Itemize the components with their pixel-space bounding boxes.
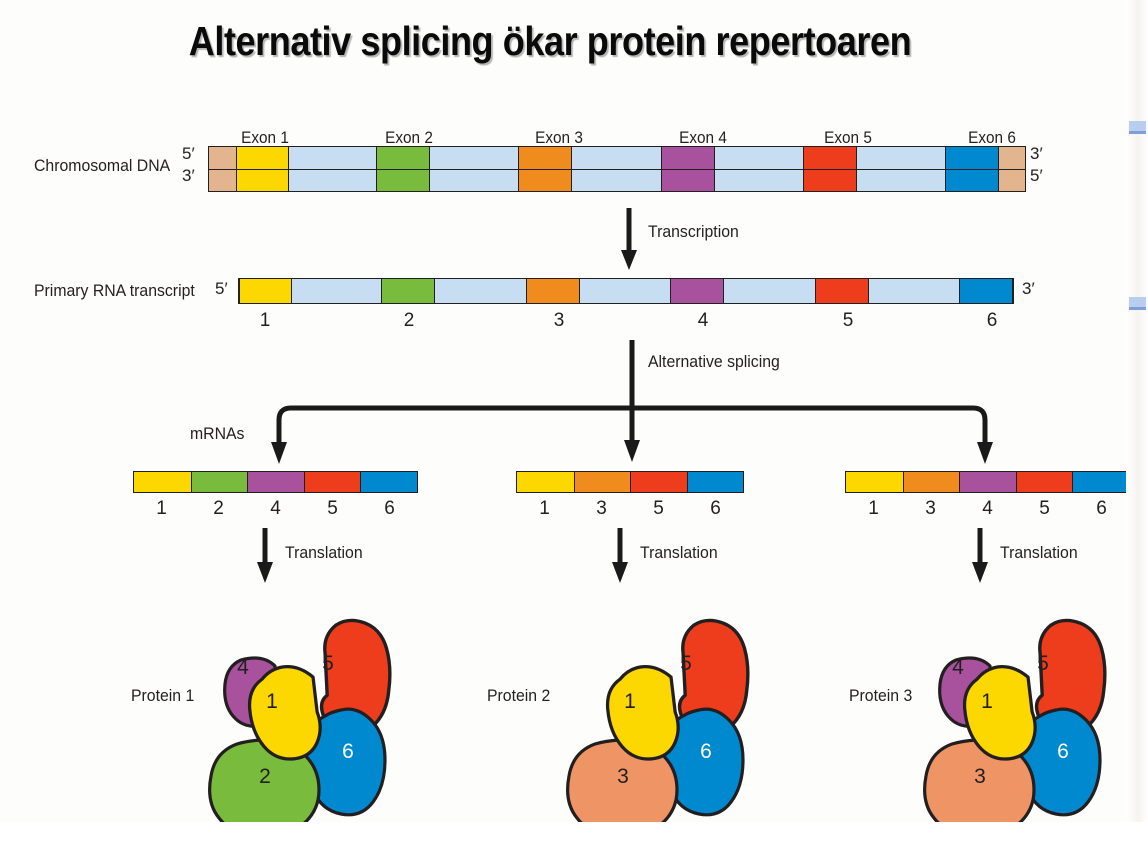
mrna-2-exon-5 (630, 472, 687, 492)
protein-2-domain-label-1: 1 (624, 690, 636, 713)
protein-2-domain-label-3: 3 (617, 765, 629, 788)
segment-exon-4 (661, 147, 714, 169)
protein-label-2: Protein 2 (487, 686, 550, 706)
rna-number-2: 2 (404, 310, 415, 332)
slide-bottom-margin (0, 822, 1148, 848)
rna-number-6: 6 (987, 310, 998, 332)
mrna-1-number-6: 6 (384, 498, 395, 520)
segment-exon-8 (815, 279, 869, 303)
mrna-3-exon-1 (846, 472, 903, 492)
primary-rna-label: Primary RNA transcript (34, 281, 195, 301)
segment-exon-2 (376, 147, 429, 169)
segment-intron-4 (429, 147, 518, 169)
mrna-1-exon-2 (191, 472, 248, 492)
segment-exon-5 (803, 147, 856, 169)
mrna-3-exon-6 (1072, 472, 1129, 492)
segment-exon-2 (381, 279, 435, 303)
segment-exon-10 (959, 279, 1013, 303)
protein-1-domain-label-5: 5 (322, 652, 334, 675)
protein-1-domain-label-1: 1 (266, 690, 278, 713)
mrna-2-number-1: 1 (539, 498, 550, 520)
segment-intron-7 (724, 279, 814, 303)
alternative-splicing-label: Alternative splicing (648, 352, 780, 372)
segment-exon-6 (945, 170, 998, 191)
segment-intron-9 (869, 279, 959, 303)
segment-exon-6 (670, 279, 724, 303)
mrna-3-number-6: 6 (1096, 498, 1107, 520)
mrna-1-exon-6 (360, 472, 417, 492)
panel-marker-top (1129, 121, 1146, 134)
segment-exon-4 (661, 170, 714, 191)
mrna-1-exon-4 (247, 472, 304, 492)
slide-canvas: Alternativ splicing ökar protein reperto… (0, 0, 1148, 848)
page-title: Alternativ splicing ökar protein reperto… (66, 18, 1034, 65)
translation-label-1: Translation (285, 543, 363, 563)
mrna-bar-3 (845, 471, 1130, 493)
mrna-2-exon-1 (517, 472, 574, 492)
protein-3-domain-label-5: 5 (1037, 652, 1049, 675)
mrna-3-number-5: 5 (1039, 498, 1050, 520)
segment-flank-12 (998, 147, 1025, 169)
segment-exon-1 (236, 170, 288, 191)
protein-3-domain-label-3: 3 (974, 765, 986, 788)
dna-five-prime-left: 5′ (182, 144, 195, 164)
mrna-2-number-6: 6 (710, 498, 721, 520)
segment-exon-5 (803, 170, 856, 191)
mrna-3-number-4: 4 (982, 498, 993, 520)
mrnas-label: mRNAs (190, 424, 244, 444)
protein-3-domain-label-1: 1 (981, 690, 993, 713)
segment-intron-3 (435, 279, 525, 303)
segment-intron-4 (429, 170, 518, 191)
translation-label-2: Translation (640, 543, 718, 563)
transcription-arrow (621, 208, 637, 270)
segment-flank-0 (209, 147, 236, 169)
translation-arrow-2 (612, 528, 628, 583)
protein-2-domain-label-5: 5 (680, 652, 692, 675)
segment-intron-2 (288, 170, 376, 191)
mrna-1-number-2: 2 (213, 498, 224, 520)
mrna-1-number-4: 4 (270, 498, 281, 520)
chromosomal-dna-label: Chromosomal DNA (34, 156, 170, 176)
primary-rna-transcript-bar (238, 278, 1014, 304)
segment-intron-8 (714, 170, 803, 191)
segment-intron-2 (288, 147, 376, 169)
rna-number-1: 1 (260, 310, 271, 332)
dna-strand-antisense (209, 169, 1025, 191)
dna-three-prime-right: 3′ (1030, 144, 1043, 164)
segment-intron-10 (856, 170, 945, 191)
segment-exon-6 (945, 147, 998, 169)
segment-exon-4 (526, 279, 580, 303)
rna-three-prime: 3′ (1022, 279, 1035, 299)
segment-intron-8 (714, 147, 803, 169)
segment-exon-0 (239, 279, 292, 303)
dna-strand-sense (209, 147, 1025, 169)
panel-marker-bottom (1129, 297, 1146, 310)
segment-flank-0 (209, 170, 236, 191)
mrna-3-number-3: 3 (925, 498, 936, 520)
protein-1-domain-label-4: 4 (237, 656, 249, 679)
transcription-label: Transcription (648, 222, 739, 242)
mrna-bar-1 (133, 471, 418, 493)
segment-exon-3 (518, 147, 571, 169)
protein-3-domain-label-4: 4 (952, 656, 964, 679)
segment-intron-5 (580, 279, 670, 303)
protein-2-domain-label-6: 6 (700, 740, 712, 763)
alternative-splicing-arrow (624, 340, 640, 462)
segment-flank-12 (998, 170, 1025, 191)
rna-five-prime: 5′ (215, 279, 228, 299)
segment-intron-1 (292, 279, 382, 303)
segment-intron-6 (571, 170, 660, 191)
protein-1-domain-label-2: 2 (259, 765, 271, 788)
protein-label-3: Protein 3 (849, 686, 912, 706)
protein-complex-2: 5631 (553, 608, 783, 823)
dna-three-prime-left: 3′ (182, 166, 195, 186)
segment-exon-3 (518, 170, 571, 191)
protein-complex-3: 45631 (910, 608, 1140, 823)
chromosomal-dna-bar (208, 146, 1026, 192)
translation-arrow-1 (257, 528, 273, 583)
segment-exon-2 (376, 170, 429, 191)
rna-number-5: 5 (843, 310, 854, 332)
mrna-1-exon-1 (134, 472, 191, 492)
mrna-bar-2 (516, 471, 744, 493)
protein-1-domain-label-6: 6 (342, 740, 354, 763)
rna-number-4: 4 (698, 310, 709, 332)
mrna-3-exon-4 (959, 472, 1016, 492)
slide-panel-edge (1126, 0, 1148, 848)
dna-five-prime-right: 5′ (1030, 166, 1043, 186)
mrna-2-number-5: 5 (653, 498, 664, 520)
mrna-1-number-1: 1 (156, 498, 167, 520)
protein-3-domain-label-6: 6 (1057, 740, 1069, 763)
splicing-branch-bracket (271, 408, 993, 464)
mrna-2-number-3: 3 (596, 498, 607, 520)
mrna-2-exon-6 (687, 472, 744, 492)
mrna-3-number-1: 1 (868, 498, 879, 520)
mrna-3-exon-3 (903, 472, 960, 492)
protein-complex-1: 45621 (195, 608, 425, 823)
segment-intron-10 (856, 147, 945, 169)
translation-arrow-3 (972, 528, 988, 583)
mrna-1-exon-5 (304, 472, 361, 492)
translation-label-3: Translation (1000, 543, 1078, 563)
segment-intron-6 (571, 147, 660, 169)
segment-exon-1 (236, 147, 288, 169)
mrna-2-exon-3 (574, 472, 631, 492)
protein-label-1: Protein 1 (131, 686, 194, 706)
mrna-3-exon-5 (1016, 472, 1073, 492)
mrna-1-number-5: 5 (327, 498, 338, 520)
rna-number-3: 3 (554, 310, 565, 332)
